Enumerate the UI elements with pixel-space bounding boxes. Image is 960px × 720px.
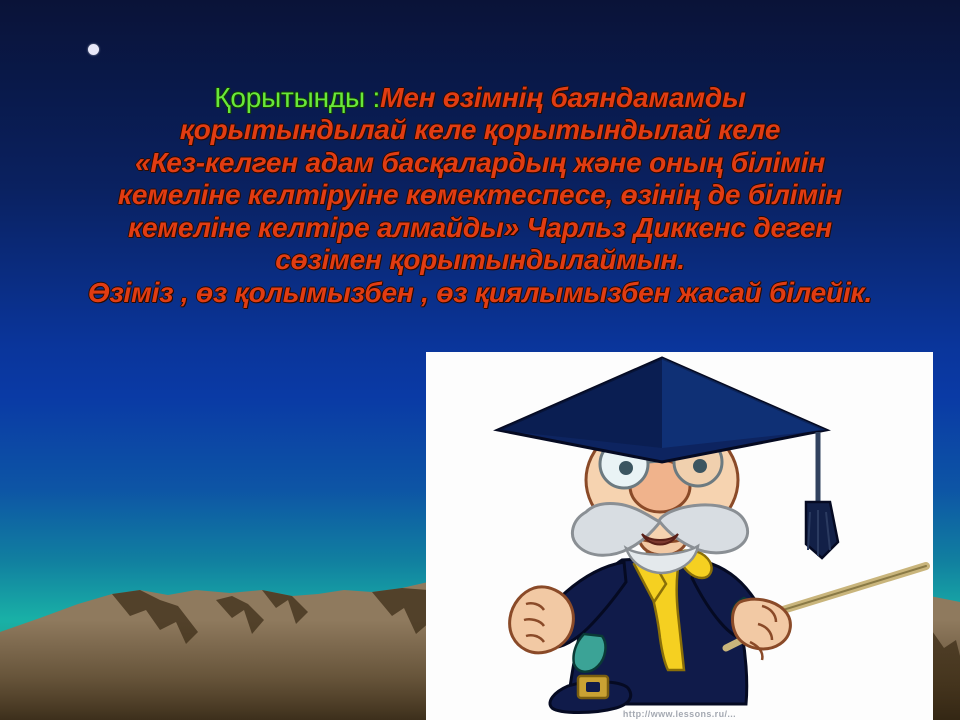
professor-drawing bbox=[426, 352, 933, 720]
bullet-marker bbox=[88, 44, 99, 55]
text-line-5: кемеліне келтіре алмайды» Чарльз Диккенс… bbox=[0, 212, 960, 244]
presentation-slide: Қорытынды :Мен өзімнің баяндамамды қорыт… bbox=[0, 0, 960, 720]
text-line-6: сөзімен қорытындылаймын. bbox=[0, 244, 960, 276]
text-line-1: Қорытынды :Мен өзімнің баяндамамды bbox=[0, 82, 960, 114]
professor-illustration: http://www.lessons.ru/... bbox=[426, 352, 933, 720]
text-line-7: Өзіміз , өз қолымызбен , өз қиялымызбен … bbox=[0, 277, 960, 309]
text-line-4: кемеліне келтіруіне көмектеспесе, өзінің… bbox=[0, 179, 960, 211]
slide-text-block: Қорытынды :Мен өзімнің баяндамамды қорыт… bbox=[0, 82, 960, 309]
picture-caption: http://www.lessons.ru/... bbox=[426, 709, 933, 719]
text-line-2: қорытындылай келе қорытындылай келе bbox=[0, 114, 960, 146]
conclusion-label: Қорытынды : bbox=[214, 82, 380, 113]
text-line-1-body: Мен өзімнің баяндамамды bbox=[380, 82, 746, 113]
text-line-3: «Кез-келген адам басқалардың және оның б… bbox=[0, 147, 960, 179]
